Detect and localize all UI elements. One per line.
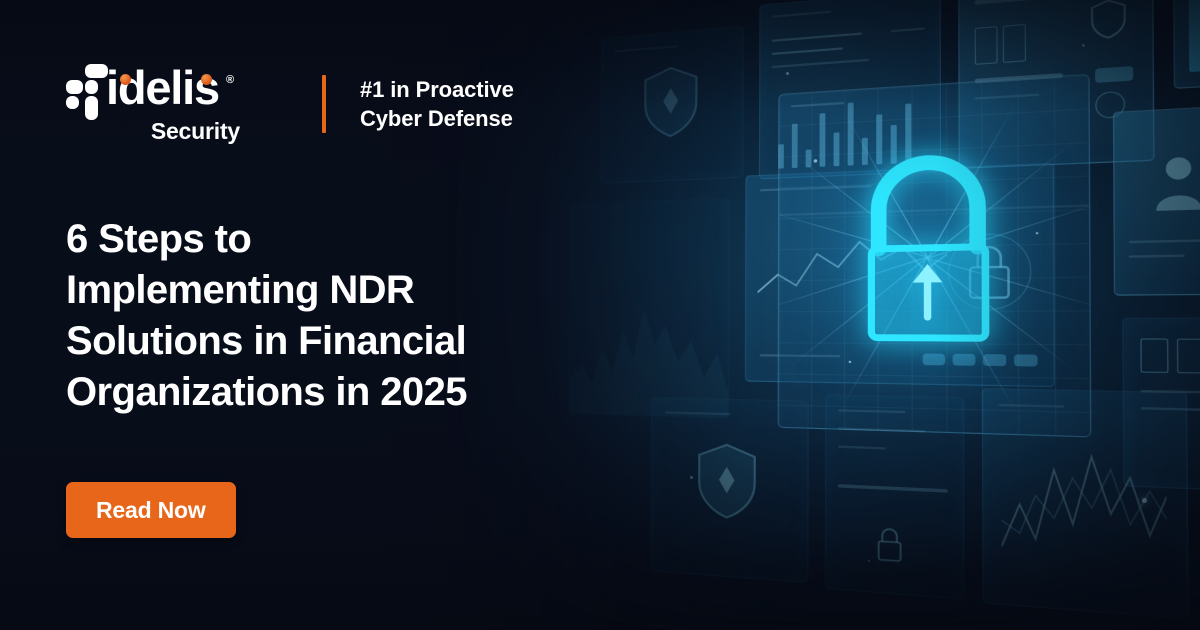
brand-tagline: #1 in Proactive Cyber Defense <box>360 75 514 133</box>
read-now-button[interactable]: Read Now <box>66 482 236 538</box>
tagline-line-2: Cyber Defense <box>360 104 514 133</box>
logo-subtitle: Security <box>151 118 240 145</box>
card-content: idelis ® Security #1 in Proactive Cyber … <box>0 0 1200 630</box>
headline-line-3: Solutions in Financial <box>66 316 626 367</box>
headline-line-1: 6 Steps to <box>66 214 626 265</box>
logo-dot-i-first <box>120 74 131 85</box>
fidelis-f-mark-icon <box>66 64 108 120</box>
tagline-line-1: #1 in Proactive <box>360 75 514 104</box>
headline-line-4: Organizations in 2025 <box>66 367 626 418</box>
brand-divider <box>322 75 326 133</box>
headline-line-2: Implementing NDR <box>66 265 626 316</box>
brand-bar: idelis ® Security #1 in Proactive Cyber … <box>66 62 514 146</box>
headline: 6 Steps to Implementing NDR Solutions in… <box>66 214 626 418</box>
logo-wordmark: idelis <box>106 60 219 116</box>
social-card: idelis ® Security #1 in Proactive Cyber … <box>0 0 1200 630</box>
logo-dot-i-second <box>201 74 212 85</box>
registered-mark: ® <box>226 74 234 86</box>
fidelis-logo[interactable]: idelis ® Security <box>66 62 238 146</box>
